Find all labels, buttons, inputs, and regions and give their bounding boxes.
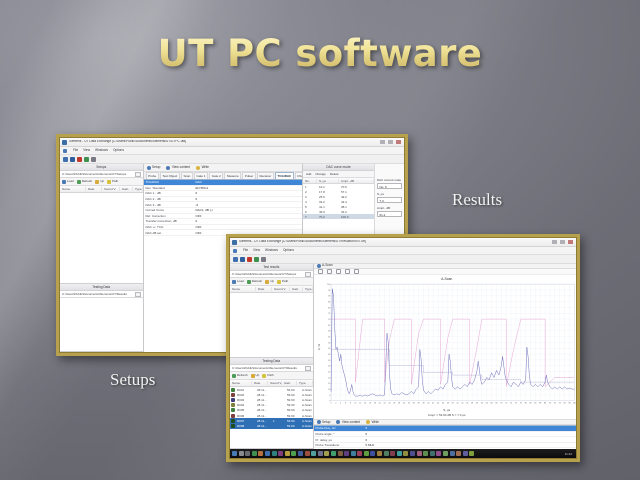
folder-icon <box>107 180 111 184</box>
dac-field-value[interactable]: No. 6 <box>377 183 402 189</box>
titlebar-setups[interactable]: Siemens - UT Data Exchange [C:\Users\Pub… <box>60 138 404 147</box>
dac-cell-ampl: 57.1 <box>339 190 374 194</box>
menu-windows[interactable]: Windows <box>265 249 278 252</box>
svg-text:14: 14 <box>364 402 366 404</box>
tab-setup[interactable]: Setup <box>147 166 161 170</box>
dac-cell-ampl: 38.1 <box>339 205 374 209</box>
tab-receiver[interactable]: Receiver <box>257 172 274 179</box>
dac-cell-ampl: 43.4 <box>339 200 374 204</box>
minimize-button[interactable] <box>380 140 385 144</box>
toolbar-results[interactable] <box>230 255 576 264</box>
svg-text:58: 58 <box>471 402 473 404</box>
dac-cell-no: 5 <box>303 205 317 209</box>
dac-cell-no: 3 <box>303 195 317 199</box>
refresh-icon <box>232 374 236 378</box>
svg-text:28: 28 <box>398 402 400 404</box>
cell-name: R008 <box>236 424 256 428</box>
panel-toolbar[interactable]: Load Refresh Up Path <box>230 278 313 286</box>
svg-text:75: 75 <box>328 313 330 315</box>
app-icon <box>232 240 237 245</box>
svg-text:32: 32 <box>407 402 409 404</box>
svg-text:65: 65 <box>328 325 330 327</box>
write-icon <box>196 166 200 170</box>
svg-text:4: 4 <box>340 402 341 404</box>
content-icon <box>336 420 340 424</box>
maximize-button[interactable] <box>388 140 393 144</box>
taskbar-icon[interactable] <box>463 451 468 456</box>
taskbar-icon[interactable] <box>298 451 303 456</box>
taskbar-icon[interactable] <box>450 451 455 456</box>
tab-a-scan[interactable]: A-Scan <box>317 264 333 268</box>
svg-text:60: 60 <box>476 402 478 404</box>
svg-text:86: 86 <box>539 402 541 404</box>
svg-text:78: 78 <box>519 402 521 404</box>
cell-gain: 59.90 <box>286 414 301 418</box>
tab-view-content[interactable]: View content <box>336 420 360 424</box>
taskbar-icon[interactable] <box>311 451 316 456</box>
open-icon[interactable] <box>233 257 238 262</box>
menu-icon <box>63 149 67 153</box>
dac-cell-no: 6 <box>303 210 317 214</box>
up-button[interactable]: Up <box>251 374 260 378</box>
panel-testing-data: Testing Data C:\Users\Public\Documents\S… <box>60 284 143 352</box>
cell-gain: 59.90 <box>286 393 301 397</box>
taskbar-icon[interactable] <box>318 451 323 456</box>
save-icon[interactable] <box>240 257 245 262</box>
dac-cell-s: 33.2 <box>317 200 339 204</box>
connect-icon[interactable] <box>247 257 252 262</box>
dac-field-value[interactable]: 61.2 <box>377 211 402 217</box>
taskbar-icon[interactable] <box>364 451 369 456</box>
cell-name: R004 <box>236 403 256 407</box>
taskbar-icon[interactable] <box>370 451 375 456</box>
taskbar-icon[interactable] <box>324 451 329 456</box>
taskbar-icon[interactable] <box>351 451 356 456</box>
cell-type: A-Scan <box>301 424 313 428</box>
svg-text:90: 90 <box>328 296 330 298</box>
taskbar-icon[interactable] <box>403 451 408 456</box>
property-key: Probe Transducer <box>314 443 364 447</box>
up-button[interactable]: Up <box>95 180 104 184</box>
maximize-button[interactable] <box>560 240 565 244</box>
setups-file-list[interactable] <box>230 293 313 357</box>
taskbar-icon[interactable] <box>305 451 310 456</box>
svg-text:50: 50 <box>451 402 453 404</box>
taskbar-icon[interactable] <box>436 451 441 456</box>
cell-type: A-Scan <box>301 403 313 407</box>
cell-name: R001 <box>236 388 256 392</box>
dac-row[interactable]: 770.2100.0 <box>303 214 374 219</box>
results-file-list[interactable] <box>60 298 143 351</box>
svg-text:6: 6 <box>345 402 346 404</box>
taskbar-icon[interactable] <box>377 451 382 456</box>
label-setups: Setups <box>110 370 155 390</box>
zoom-in-icon[interactable] <box>318 269 323 274</box>
load-button[interactable]: Load <box>62 180 74 184</box>
svg-text:0: 0 <box>330 402 331 404</box>
svg-text:70: 70 <box>328 319 330 321</box>
change-button[interactable]: Change <box>315 172 326 176</box>
svg-text:15: 15 <box>328 383 330 385</box>
chart-plot[interactable]: 0510152025303540455055606570758085909510… <box>324 282 576 408</box>
path-button[interactable]: Path <box>277 280 288 284</box>
panel-toolbar[interactable]: Load Refresh Up Path <box>60 178 143 186</box>
label-results: Results <box>452 190 502 210</box>
dac-buttons[interactable]: Add Change Delete <box>303 171 374 178</box>
taskbar-icon[interactable] <box>390 451 395 456</box>
dac-cell-s: 17.8 <box>317 190 339 194</box>
close-button[interactable] <box>568 240 573 244</box>
svg-text:88: 88 <box>544 402 546 404</box>
svg-text:82: 82 <box>529 402 531 404</box>
window-title: Siemens - UT Data Exchange [C:\Users\Pub… <box>69 140 378 143</box>
property-key: Ref. Correction <box>144 214 194 218</box>
folder-icon <box>262 374 266 378</box>
cell-date: 28.11... <box>256 398 272 402</box>
list-item[interactable]: R00428.11...59.90A-Scan <box>230 403 313 408</box>
svg-text:16: 16 <box>369 402 371 404</box>
menu-options[interactable]: Options <box>113 149 124 152</box>
taskbar-icon[interactable] <box>417 451 422 456</box>
list-item[interactable]: R00828.11...53.90A-Scan <box>230 423 313 428</box>
property-value[interactable]: 5 <box>364 426 577 430</box>
path-field[interactable]: C:\Users\Public\Documents\Siemens\UT\Res… <box>60 291 143 298</box>
property-key: Probe angle, ° <box>314 432 364 436</box>
minimize-button[interactable] <box>552 240 557 244</box>
grid-icon[interactable] <box>345 269 350 274</box>
svg-text:100: 100 <box>572 402 575 404</box>
tab-setup[interactable]: Setup <box>317 420 331 424</box>
chart-container[interactable]: A-Scan A, % 0510152025303540455055606570… <box>314 275 577 419</box>
taskbar[interactable]: 11:42 <box>230 449 576 458</box>
window-results[interactable]: Siemens - UT Data Exchange [C:\Users\Pub… <box>226 234 580 462</box>
open-icon[interactable] <box>63 157 68 162</box>
zoom-out-icon[interactable] <box>327 269 332 274</box>
panel-test-results: Test results C:\Users\Public\Documents\S… <box>230 264 313 358</box>
content-icon <box>166 166 170 170</box>
svg-text:68: 68 <box>495 402 497 404</box>
taskbar-icon[interactable] <box>265 451 270 456</box>
svg-text:76: 76 <box>514 402 516 404</box>
chart-title: A-Scan <box>314 275 577 281</box>
taskbar-icon[interactable] <box>258 451 263 456</box>
folder-icon <box>277 280 281 284</box>
dac-row[interactable]: 649.034.2 <box>303 209 374 214</box>
svg-text:36: 36 <box>417 402 419 404</box>
svg-text:35: 35 <box>328 360 330 362</box>
tab-write[interactable]: Write <box>196 166 209 170</box>
svg-text:98: 98 <box>568 402 570 404</box>
list-item[interactable]: R00628.11...59.90A-Scan <box>230 413 313 418</box>
svg-text:10: 10 <box>328 389 330 391</box>
taskbar-icon[interactable] <box>232 451 237 456</box>
svg-text:90: 90 <box>549 402 551 404</box>
svg-text:56: 56 <box>466 402 468 404</box>
dac-cell-s: 49.0 <box>317 210 339 214</box>
chevron-down-icon[interactable] <box>135 292 141 297</box>
list-item[interactable]: R00728.11...153.90A-Scan <box>230 418 313 423</box>
path-field[interactable]: C:\Users\Public\Documents\Siemens\UT\Res… <box>230 365 313 372</box>
taskbar-icon[interactable] <box>430 451 435 456</box>
svg-text:84: 84 <box>534 402 536 404</box>
refresh-icon[interactable] <box>254 257 259 262</box>
chart-readout: Ampl. = 53.90 dB S = 7.3 µs <box>314 412 577 419</box>
dac-cell-no: 1 <box>303 185 317 189</box>
svg-text:80: 80 <box>328 307 330 309</box>
svg-text:24: 24 <box>388 402 390 404</box>
property-key: DAC 1 - dB <box>144 191 194 195</box>
svg-text:25: 25 <box>328 371 330 373</box>
add-button[interactable]: Add <box>306 172 311 176</box>
svg-text:48: 48 <box>446 402 448 404</box>
titlebar-results[interactable]: Siemens - UT Data Exchange [C:\Users\Pub… <box>230 238 576 247</box>
dac-field-value[interactable]: 7.3 <box>377 197 402 203</box>
tab-test-object[interactable]: Test Object <box>160 172 180 179</box>
column-headers[interactable]: Name Date Sound V. Gain Type <box>60 186 143 193</box>
cell-gain: 59.90 <box>286 403 301 407</box>
taskbar-icon[interactable] <box>443 451 448 456</box>
property-key: DAC dB set <box>144 231 194 235</box>
window-controls[interactable] <box>552 240 574 244</box>
up-button[interactable]: Up <box>265 280 274 284</box>
list-item[interactable]: R00228.11...59.90A-Scan <box>230 392 313 397</box>
cell-date: 28.11... <box>256 419 272 423</box>
chart-svg: 0510152025303540455055606570758085909510… <box>324 282 576 408</box>
list-item[interactable]: R00128.11...59.90A-Scan <box>230 387 313 392</box>
svg-text:20: 20 <box>378 402 380 404</box>
svg-text:95: 95 <box>328 290 330 292</box>
cell-date: 28.11... <box>256 424 272 428</box>
property-value[interactable]: 0 <box>364 432 577 436</box>
menu-view[interactable]: View <box>253 249 260 252</box>
up-arrow-icon <box>95 180 99 184</box>
tab-probe[interactable]: Probe <box>146 172 159 179</box>
tab-view-content[interactable]: View content <box>166 166 190 170</box>
connect-icon[interactable] <box>77 157 82 162</box>
load-icon <box>232 280 236 284</box>
print-icon[interactable] <box>91 157 96 162</box>
ascan-icon <box>317 264 321 268</box>
refresh-button[interactable]: Refresh <box>247 280 263 284</box>
panel-setups-list: Setups C:\Users\Public\Documents\Siemens… <box>60 164 143 284</box>
taskbar-icon[interactable] <box>252 451 257 456</box>
sidebar-setups: Setups C:\Users\Public\Documents\Siemens… <box>60 164 144 352</box>
dac-field-label: Ampl., dB <box>377 206 402 210</box>
content-results: A-Scan A-Scan A, % 051015202530354045505… <box>314 264 577 449</box>
taskbar-icon[interactable] <box>245 451 250 456</box>
cell-name: R003 <box>236 398 256 402</box>
setups-file-list[interactable] <box>60 193 143 283</box>
save-icon[interactable] <box>70 157 75 162</box>
property-value[interactable]: 0 <box>364 438 577 442</box>
dac-cell-no: 7 <box>303 215 317 219</box>
dac-header: DAC curve mode <box>303 164 374 171</box>
property-key: DAC 3 - dB <box>144 203 194 207</box>
cell-date: 28.11... <box>256 393 272 397</box>
panel-toolbar[interactable]: Refresh Up Path <box>230 372 313 380</box>
property-key: DAC 2 - dB <box>144 197 194 201</box>
property-key: Rec. Standard <box>144 186 194 190</box>
chevron-down-icon[interactable] <box>305 366 311 371</box>
print-icon[interactable] <box>261 257 266 262</box>
tab-tcg-dac[interactable]: TCG/DAC <box>275 172 294 179</box>
fit-icon[interactable] <box>336 269 341 274</box>
taskbar-icon[interactable] <box>397 451 402 456</box>
tab-scan[interactable]: Scan <box>181 172 193 179</box>
cell-name: R005 <box>236 408 256 412</box>
dac-cell-ampl: 49.2 <box>339 195 374 199</box>
taskbar-icon[interactable] <box>278 451 283 456</box>
svg-text:70: 70 <box>500 402 502 404</box>
menu-options[interactable]: Options <box>283 249 294 252</box>
list-item[interactable]: R00328.11...59.90A-Scan <box>230 397 313 402</box>
sidebar-results: Test results C:\Users\Public\Documents\S… <box>230 264 314 449</box>
taskbar-icon[interactable] <box>291 451 296 456</box>
delete-button[interactable]: Delete <box>330 172 339 176</box>
property-key: TCG/DAC <box>144 180 194 184</box>
taskbar-icon[interactable] <box>344 451 349 456</box>
dac-cell-s: 10.1 <box>317 185 339 189</box>
tab-gate-1[interactable]: Gate 1 <box>194 172 208 179</box>
svg-text:85: 85 <box>328 301 330 303</box>
file-icon <box>231 419 235 423</box>
column-headers[interactable]: Name Date Sound V. Gain Type <box>230 380 313 387</box>
path-field[interactable]: C:\Users\Public\Documents\Siemens\UT\Set… <box>230 271 313 278</box>
taskbar-icon[interactable] <box>239 451 244 456</box>
tab-gate-2[interactable]: Gate 2 <box>209 172 223 179</box>
taskbar-icon[interactable] <box>410 451 415 456</box>
svg-text:96: 96 <box>563 402 565 404</box>
menu-windows[interactable]: Windows <box>95 149 108 152</box>
refresh-icon[interactable] <box>84 157 89 162</box>
path-field[interactable]: C:\Users\Public\Documents\Siemens\UT\Set… <box>60 171 143 178</box>
taskbar-icon[interactable] <box>357 451 362 456</box>
svg-text:54: 54 <box>461 402 463 404</box>
refresh-button[interactable]: Refresh <box>232 374 248 378</box>
taskbar-icon[interactable] <box>423 451 428 456</box>
chevron-down-icon[interactable] <box>305 272 311 277</box>
cell-date: 28.11... <box>256 388 272 392</box>
property-value[interactable]: 5 MHz <box>364 443 577 447</box>
list-item[interactable]: R00528.11...59.90A-Scan <box>230 408 313 413</box>
panel-header: Testing Data <box>60 284 143 291</box>
app-icon <box>62 140 67 145</box>
menubar-results[interactable]: File View Windows Options <box>230 247 576 255</box>
dac-cell-s: 41.1 <box>317 205 339 209</box>
svg-text:22: 22 <box>383 402 385 404</box>
cell-type: A-Scan <box>301 414 313 418</box>
svg-text:66: 66 <box>490 402 492 404</box>
taskbar-icon[interactable] <box>331 451 336 456</box>
window-title: Siemens - UT Data Exchange [C:\Users\Pub… <box>239 240 550 243</box>
svg-text:80: 80 <box>524 402 526 404</box>
toolbar-setups[interactable] <box>60 155 404 164</box>
taskbar-icon[interactable] <box>456 451 461 456</box>
file-icon <box>231 414 235 418</box>
load-button[interactable]: Load <box>232 280 244 284</box>
dac-cell-s: 25.6 <box>317 195 339 199</box>
svg-text:2: 2 <box>335 402 336 404</box>
menubar-setups[interactable]: File View Windows Options <box>60 147 404 155</box>
menu-file[interactable]: File <box>73 149 78 152</box>
taskbar-icon[interactable] <box>272 451 277 456</box>
svg-text:18: 18 <box>373 402 375 404</box>
svg-text:92: 92 <box>553 402 555 404</box>
svg-text:44: 44 <box>437 402 439 404</box>
dac-cell-ampl: 70.0 <box>339 185 374 189</box>
cell-type: A-Scan <box>301 388 313 392</box>
setup-icon <box>317 420 321 424</box>
taskbar-icon[interactable] <box>285 451 290 456</box>
menu-view[interactable]: View <box>83 149 90 152</box>
cell-type: A-Scan <box>301 419 313 423</box>
svg-text:5: 5 <box>329 395 330 397</box>
cell-gain: 59.90 <box>286 388 301 392</box>
taskbar-icon[interactable] <box>469 451 474 456</box>
dac-cell-ampl: 100.0 <box>339 215 374 219</box>
svg-text:30: 30 <box>328 366 330 368</box>
menu-file[interactable]: File <box>243 249 248 252</box>
svg-text:40: 40 <box>427 402 429 404</box>
tab-write[interactable]: Write <box>366 420 379 424</box>
property-key: DAC +/- TCG <box>144 225 194 229</box>
panel-header: Setups <box>60 164 143 171</box>
column-headers[interactable]: Name Date Sound V. Gain Type <box>230 286 313 293</box>
dac-cell-ampl: 34.2 <box>339 210 374 214</box>
file-icon <box>231 398 235 402</box>
window-controls[interactable] <box>380 140 402 144</box>
taskbar-icon[interactable] <box>384 451 389 456</box>
dac-field-label: DAC current node <box>377 178 402 182</box>
svg-text:100: 100 <box>327 284 330 286</box>
path-button[interactable]: Path <box>262 374 273 378</box>
dac-row[interactable]: 110.170.0 <box>303 184 374 189</box>
refresh-button[interactable]: Refresh <box>77 180 93 184</box>
tab-pulser[interactable]: Pulser <box>242 172 256 179</box>
taskbar-icon[interactable] <box>338 451 343 456</box>
tab-measure[interactable]: Measure <box>224 172 241 179</box>
svg-text:30: 30 <box>403 402 405 404</box>
close-button[interactable] <box>396 140 401 144</box>
svg-text:62: 62 <box>480 402 482 404</box>
dac-row[interactable]: 217.857.1 <box>303 189 374 194</box>
up-arrow-icon <box>251 374 255 378</box>
file-icon <box>231 403 235 407</box>
file-icon <box>231 393 235 397</box>
cell-gain: 59.90 <box>286 398 301 402</box>
dac-row[interactable]: 541.138.1 <box>303 204 374 209</box>
results-file-list[interactable]: R00128.11...59.90A-ScanR00228.11...59.90… <box>230 387 313 448</box>
property-key: Pr. delay, µs <box>314 438 364 442</box>
panel-testing-data: Testing Data C:\Users\Public\Documents\S… <box>230 358 313 449</box>
svg-text:8: 8 <box>350 402 351 404</box>
cell-type: A-Scan <box>301 408 313 412</box>
chevron-down-icon[interactable] <box>135 172 141 177</box>
cell-date: 28.11... <box>256 408 272 412</box>
svg-text:12: 12 <box>359 402 361 404</box>
dac-row[interactable]: 325.649.2 <box>303 194 374 199</box>
dac-row[interactable]: 433.243.4 <box>303 199 374 204</box>
dac-cell-no: 4 <box>303 200 317 204</box>
cell-name: R007 <box>236 419 256 423</box>
page-title: UT PC software <box>0 32 640 75</box>
cell-gain: 53.90 <box>286 424 301 428</box>
svg-text:72: 72 <box>505 402 507 404</box>
svg-text:55: 55 <box>328 336 330 338</box>
cursor-icon[interactable] <box>354 269 359 274</box>
panel-header: Testing Data <box>230 358 313 365</box>
path-button[interactable]: Path <box>107 180 118 184</box>
